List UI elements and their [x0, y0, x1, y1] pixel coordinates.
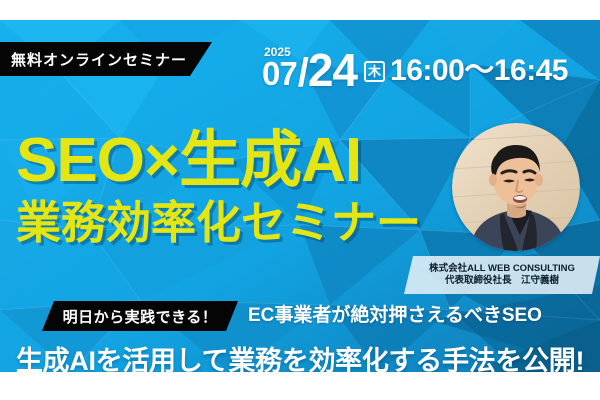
free-seminar-label: 無料オンラインセミナー: [11, 49, 187, 70]
subheading-row: 明日から実践できる！ EC事業者が絶対押さえるべきSEO: [0, 301, 600, 335]
speaker-organization: 株式会社ALL WEB CONSULTING: [429, 263, 575, 275]
event-day: 24: [308, 50, 357, 91]
speaker-title-name: 代表取締役社長 江守義樹: [445, 275, 559, 287]
event-weekday-badge: 木: [364, 61, 385, 82]
headline-line-1: SEO×生成AI: [16, 130, 421, 192]
event-datetime: 2025 07 / 24 木 16:00～16:45: [262, 46, 568, 89]
event-time: 16:00～16:45: [390, 56, 568, 86]
headline-group: SEO×生成AI 業務効率化セミナー: [16, 130, 421, 245]
free-seminar-ribbon: 無料オンラインセミナー: [0, 42, 212, 76]
speaker-caption-band: 株式会社ALL WEB CONSULTING 代表取締役社長 江守義樹: [404, 256, 600, 294]
seminar-banner: 無料オンラインセミナー 2025 07 / 24 木 16:00～16:45: [0, 20, 600, 372]
portrait-illustration: [452, 123, 580, 251]
tomorrow-ribbon: 明日から実践できる！: [42, 301, 238, 331]
year-month-group: 2025 07: [262, 46, 297, 89]
tomorrow-ribbon-label: 明日から実践できる！: [63, 306, 218, 327]
event-month: 07: [262, 59, 297, 89]
speaker-portrait-photo: [452, 123, 580, 251]
closing-line: 生成AIを活用して業務を効率化する手法を公開!: [0, 339, 600, 372]
subheading-lead: EC事業者が絶対押さえるべきSEO: [248, 302, 542, 330]
headline-line-2: 業務効率化セミナー: [16, 200, 421, 245]
